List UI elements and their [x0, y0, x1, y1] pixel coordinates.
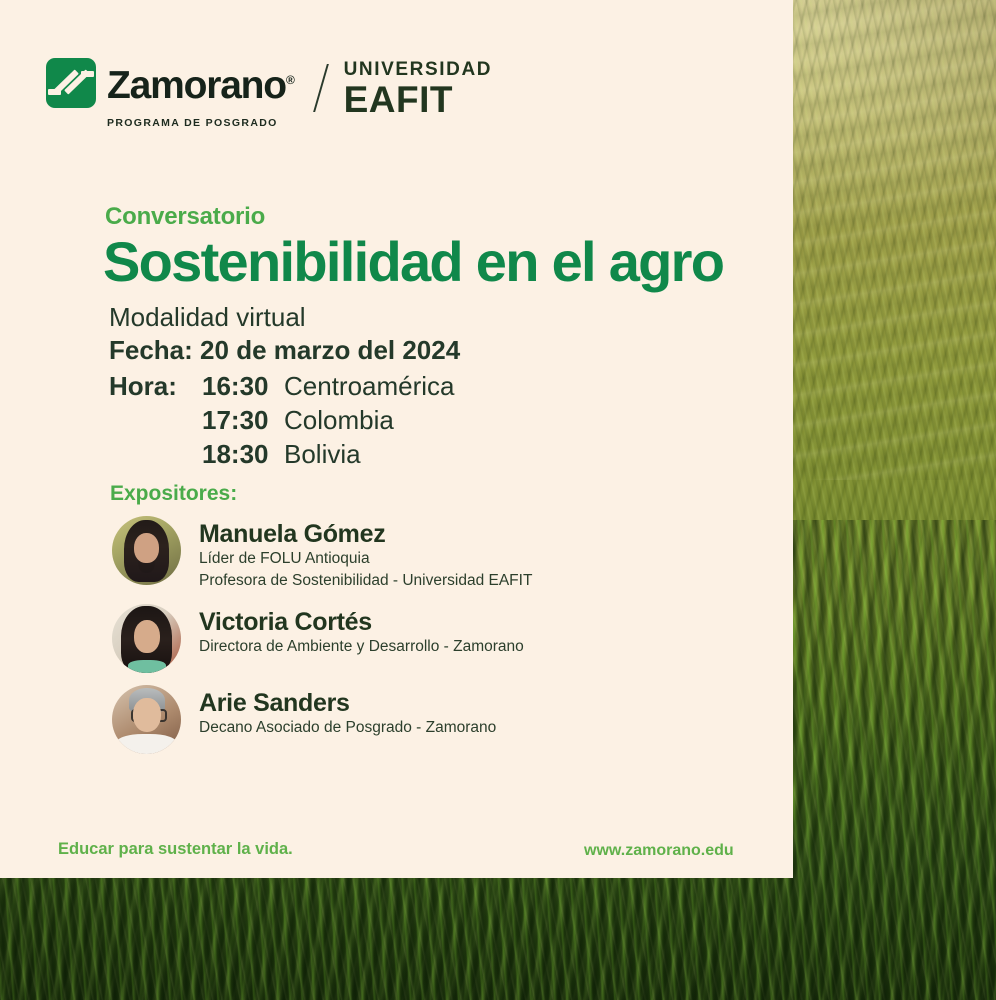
registered-mark: ® — [286, 73, 294, 87]
event-time-value: 17:30 — [202, 403, 284, 437]
speaker-photo-arie-sanders — [112, 685, 181, 754]
event-timezone: Centroamérica — [284, 369, 455, 403]
speaker-item: Victoria Cortés Directora de Ambiente y … — [112, 604, 732, 673]
event-date-row: Fecha: 20 de marzo del 2024 — [109, 334, 460, 367]
speaker-role-line: Directora de Ambiente y Desarrollo - Zam… — [199, 636, 524, 658]
speaker-info: Arie Sanders Decano Asociado de Posgrado… — [199, 685, 496, 739]
speakers-heading: Expositores: — [110, 482, 237, 506]
event-kicker: Conversatorio — [105, 203, 265, 231]
speaker-role-line: Líder de FOLU Antioquia — [199, 548, 532, 570]
zamorano-logo-top: Zamorano® — [46, 58, 294, 108]
event-time-row: Hora: 16:30 Centroamérica — [109, 369, 460, 403]
zamorano-wordmark-text: Zamorano — [107, 64, 286, 107]
eafit-universidad-text: UNIVERSIDAD — [344, 60, 493, 79]
event-time-label: Hora: — [109, 369, 202, 403]
event-modality: Modalidad virtual — [109, 301, 460, 334]
zamorano-wordmark: Zamorano® — [107, 66, 294, 105]
speaker-name: Victoria Cortés — [199, 608, 524, 636]
event-timezone: Colombia — [284, 403, 394, 437]
speaker-role-line: Decano Asociado de Posgrado - Zamorano — [199, 717, 496, 739]
speaker-photo-manuela-gomez — [112, 516, 181, 585]
speaker-info: Manuela Gómez Líder de FOLU Antioquia Pr… — [199, 516, 532, 592]
logo-lockup: Zamorano® PROGRAMA DE POSGRADO UNIVERSID… — [46, 58, 492, 129]
event-poster: Zamorano® PROGRAMA DE POSGRADO UNIVERSID… — [0, 0, 996, 1000]
zamorano-logo: Zamorano® PROGRAMA DE POSGRADO — [46, 58, 294, 129]
event-date-value: 20 de marzo del 2024 — [200, 335, 460, 365]
shirt-shape — [116, 734, 177, 754]
glasses-icon — [133, 541, 160, 553]
speaker-info: Victoria Cortés Directora de Ambiente y … — [199, 604, 524, 658]
eafit-wordmark: EAFIT — [344, 81, 453, 118]
brand-tagline: Educar para sustentar la vida. — [58, 840, 293, 859]
glasses-icon — [131, 709, 167, 722]
zamorano-z-mark-icon — [46, 58, 96, 108]
event-time-value: 18:30 — [202, 437, 284, 471]
speaker-name: Arie Sanders — [199, 689, 496, 717]
event-time-row: 17:30 Colombia — [109, 403, 460, 437]
speaker-role-line: Profesora de Sostenibilidad - Universida… — [199, 570, 532, 592]
speaker-item: Manuela Gómez Líder de FOLU Antioquia Pr… — [112, 516, 732, 592]
speaker-photo-victoria-cortes — [112, 604, 181, 673]
event-time-value: 16:30 — [202, 369, 284, 403]
event-times: Hora: 16:30 Centroamérica 17:30 Colombia… — [109, 369, 460, 471]
page-title: Sostenibilidad en el agro — [103, 233, 723, 292]
speaker-item: Arie Sanders Decano Asociado de Posgrado… — [112, 685, 732, 754]
collar-shape — [128, 660, 166, 673]
slash-divider-icon — [313, 64, 329, 112]
event-time-row: 18:30 Bolivia — [109, 437, 460, 471]
zamorano-program-subtitle: PROGRAMA DE POSGRADO — [107, 117, 278, 129]
event-timezone: Bolivia — [284, 437, 361, 471]
speakers-list: Manuela Gómez Líder de FOLU Antioquia Pr… — [112, 516, 732, 766]
content-panel: Zamorano® PROGRAMA DE POSGRADO UNIVERSID… — [0, 0, 793, 878]
event-details: Modalidad virtual Fecha: 20 de marzo del… — [109, 301, 460, 471]
speaker-name: Manuela Gómez — [199, 520, 532, 548]
event-date-label: Fecha: — [109, 335, 193, 365]
website-url[interactable]: www.zamorano.edu — [584, 842, 734, 860]
eafit-logo: UNIVERSIDAD EAFIT — [344, 60, 493, 118]
